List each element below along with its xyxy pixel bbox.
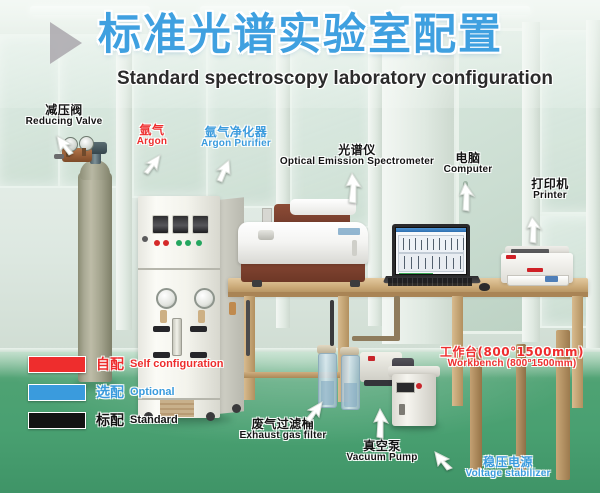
round-gauge (194, 288, 215, 309)
legend-row-standard: 标配 Standard (28, 408, 224, 432)
computer-mouse (479, 283, 490, 291)
arrow-to-spectrometer (342, 172, 366, 206)
arrow-to-argon-purifier (212, 158, 234, 184)
spectrometer-software-window (395, 227, 467, 275)
indicator-lamp (176, 240, 182, 246)
callout-voltage-stabilizer-en: Voltage stabilizer (452, 469, 564, 480)
cable-bundle (246, 300, 250, 356)
filter-bottle (341, 355, 360, 410)
exhaust-pipe-vertical (394, 296, 400, 340)
spectrometer-vent (352, 240, 357, 256)
spectrum-chart-panel (398, 235, 464, 253)
play-triangle-icon (50, 22, 82, 64)
callout-spectrometer-en: Optical Emission Spectrometer (272, 157, 442, 168)
arrow-to-reducing-valve (55, 134, 79, 156)
indicator-lamp (163, 240, 169, 246)
legend-label-optional-cn: 选配 (96, 382, 124, 402)
callout-reducing-valve: 减压阀 Reducing Valve (18, 104, 110, 128)
callout-computer: 电脑 Computer (432, 152, 504, 176)
legend-label-self-configuration-cn: 自配 (96, 354, 124, 374)
callout-reducing-valve-cn: 减压阀 (18, 104, 110, 117)
arrow-to-printer (523, 216, 545, 246)
stabilizer-power-lamp (416, 383, 422, 389)
laptop-screen (392, 224, 470, 278)
legend-label-optional-en: Optional (130, 386, 175, 398)
callout-spectrometer: 光谱仪 Optical Emission Spectrometer (272, 144, 442, 168)
callout-workbench-en: Workbench (800°1500mm) (430, 359, 594, 370)
legend-swatch-standard (28, 412, 86, 429)
indicator-lamp (196, 240, 202, 246)
callout-argon-purifier-cn: 氩气净化器 (190, 126, 282, 139)
arrow-to-exhaust-filter (300, 400, 326, 424)
callout-exhaust-filter-en: Exhaust gas filter (228, 431, 338, 442)
caster-wheel (232, 404, 241, 413)
callout-reducing-valve-en: Reducing Valve (18, 117, 110, 128)
brand-logo (338, 228, 360, 235)
valve-knob (198, 310, 205, 323)
legend-label-standard-cn: 标配 (96, 410, 124, 430)
valve-handle (153, 326, 170, 332)
callout-workbench: 工作台(800°1500mm) Workbench (800°1500mm) (430, 346, 594, 370)
callout-spectrometer-cn: 光谱仪 (272, 144, 442, 157)
spectrum-chart-panel-2 (398, 253, 464, 272)
printer-brand-badge (527, 268, 543, 272)
arrow-to-voltage-stabilizer (432, 448, 458, 472)
cabinet-divider (138, 268, 220, 270)
vacuum-hose (330, 300, 334, 346)
printer-brand-badge (506, 255, 516, 259)
callout-voltage-stabilizer-cn: 稳压电源 (452, 456, 564, 469)
callout-argon: 氩气 Argon (126, 124, 178, 148)
legend-swatch-self-configuration (28, 356, 86, 373)
vacuum-pump-switch (368, 356, 375, 361)
callout-computer-en: Computer (432, 165, 504, 176)
indicator-lamp (185, 240, 191, 246)
legend-label-standard-en: Standard (130, 414, 178, 426)
callout-printer: 打印机 Printer (512, 178, 588, 202)
round-gauge (156, 288, 177, 309)
callout-vacuum-pump: 真空泵 Vacuum Pump (336, 440, 428, 464)
callout-workbench-cn: 工作台(800°1500mm) (430, 346, 594, 359)
arrow-to-vacuum-pump (371, 408, 391, 440)
regulator-stem (82, 148, 86, 156)
callout-voltage-stabilizer: 稳压电源 Voltage stabilizer (452, 456, 564, 480)
legend: 自配 Self configuration 选配 Optional 标配 Sta… (28, 352, 224, 436)
callout-vacuum-pump-en: Vacuum Pump (336, 453, 428, 464)
status-bar-indicator (399, 273, 433, 275)
callout-argon-purifier-en: Argon Purifier (190, 139, 282, 150)
page-title-cn: 标准光谱实验室配置 (98, 9, 568, 61)
callout-argon-cn: 氩气 (126, 124, 178, 137)
printer-paper-tray (507, 275, 569, 286)
legend-label-self-configuration-en: Self configuration (130, 358, 224, 370)
callout-computer-cn: 电脑 (432, 152, 504, 165)
indicator-lamp (154, 240, 160, 246)
arrow-to-computer (456, 182, 478, 214)
panel-meter (152, 215, 169, 234)
key-switch (142, 236, 148, 242)
stabilizer-switch (399, 404, 405, 415)
callout-vacuum-pump-cn: 真空泵 (336, 440, 428, 453)
legend-swatch-optional (28, 384, 86, 401)
printer-control-button (545, 276, 558, 282)
stabilizer-voltmeter (396, 382, 415, 393)
laptop-keyboard (388, 278, 472, 286)
bench-edge (228, 292, 588, 297)
callout-argon-en: Argon (126, 137, 178, 148)
arrow-to-argon (138, 152, 164, 176)
exhaust-pipe (352, 336, 400, 341)
cylinder-body (78, 172, 112, 382)
lab-configuration-poster: 标准光谱实验室配置 Standard spectroscopy laborato… (0, 0, 600, 493)
sample-clamp (258, 230, 274, 240)
valve-knob (160, 310, 167, 323)
valve-handle (190, 326, 207, 332)
callout-printer-en: Printer (512, 191, 588, 202)
callout-argon-purifier: 氩气净化器 Argon Purifier (190, 126, 282, 150)
flow-meter-tube (172, 318, 182, 356)
spectrometer-foot (350, 280, 360, 287)
legend-row-optional: 选配 Optional (28, 380, 224, 404)
legend-row-self-configuration: 自配 Self configuration (28, 352, 224, 376)
panel-meter (172, 215, 189, 234)
side-handle (229, 302, 236, 315)
panel-meter (192, 215, 209, 234)
callout-printer-cn: 打印机 (512, 178, 588, 191)
software-titlebar (396, 228, 466, 232)
spectrometer-foot (252, 280, 262, 287)
page-title-en: Standard spectroscopy laboratory configu… (110, 68, 560, 90)
